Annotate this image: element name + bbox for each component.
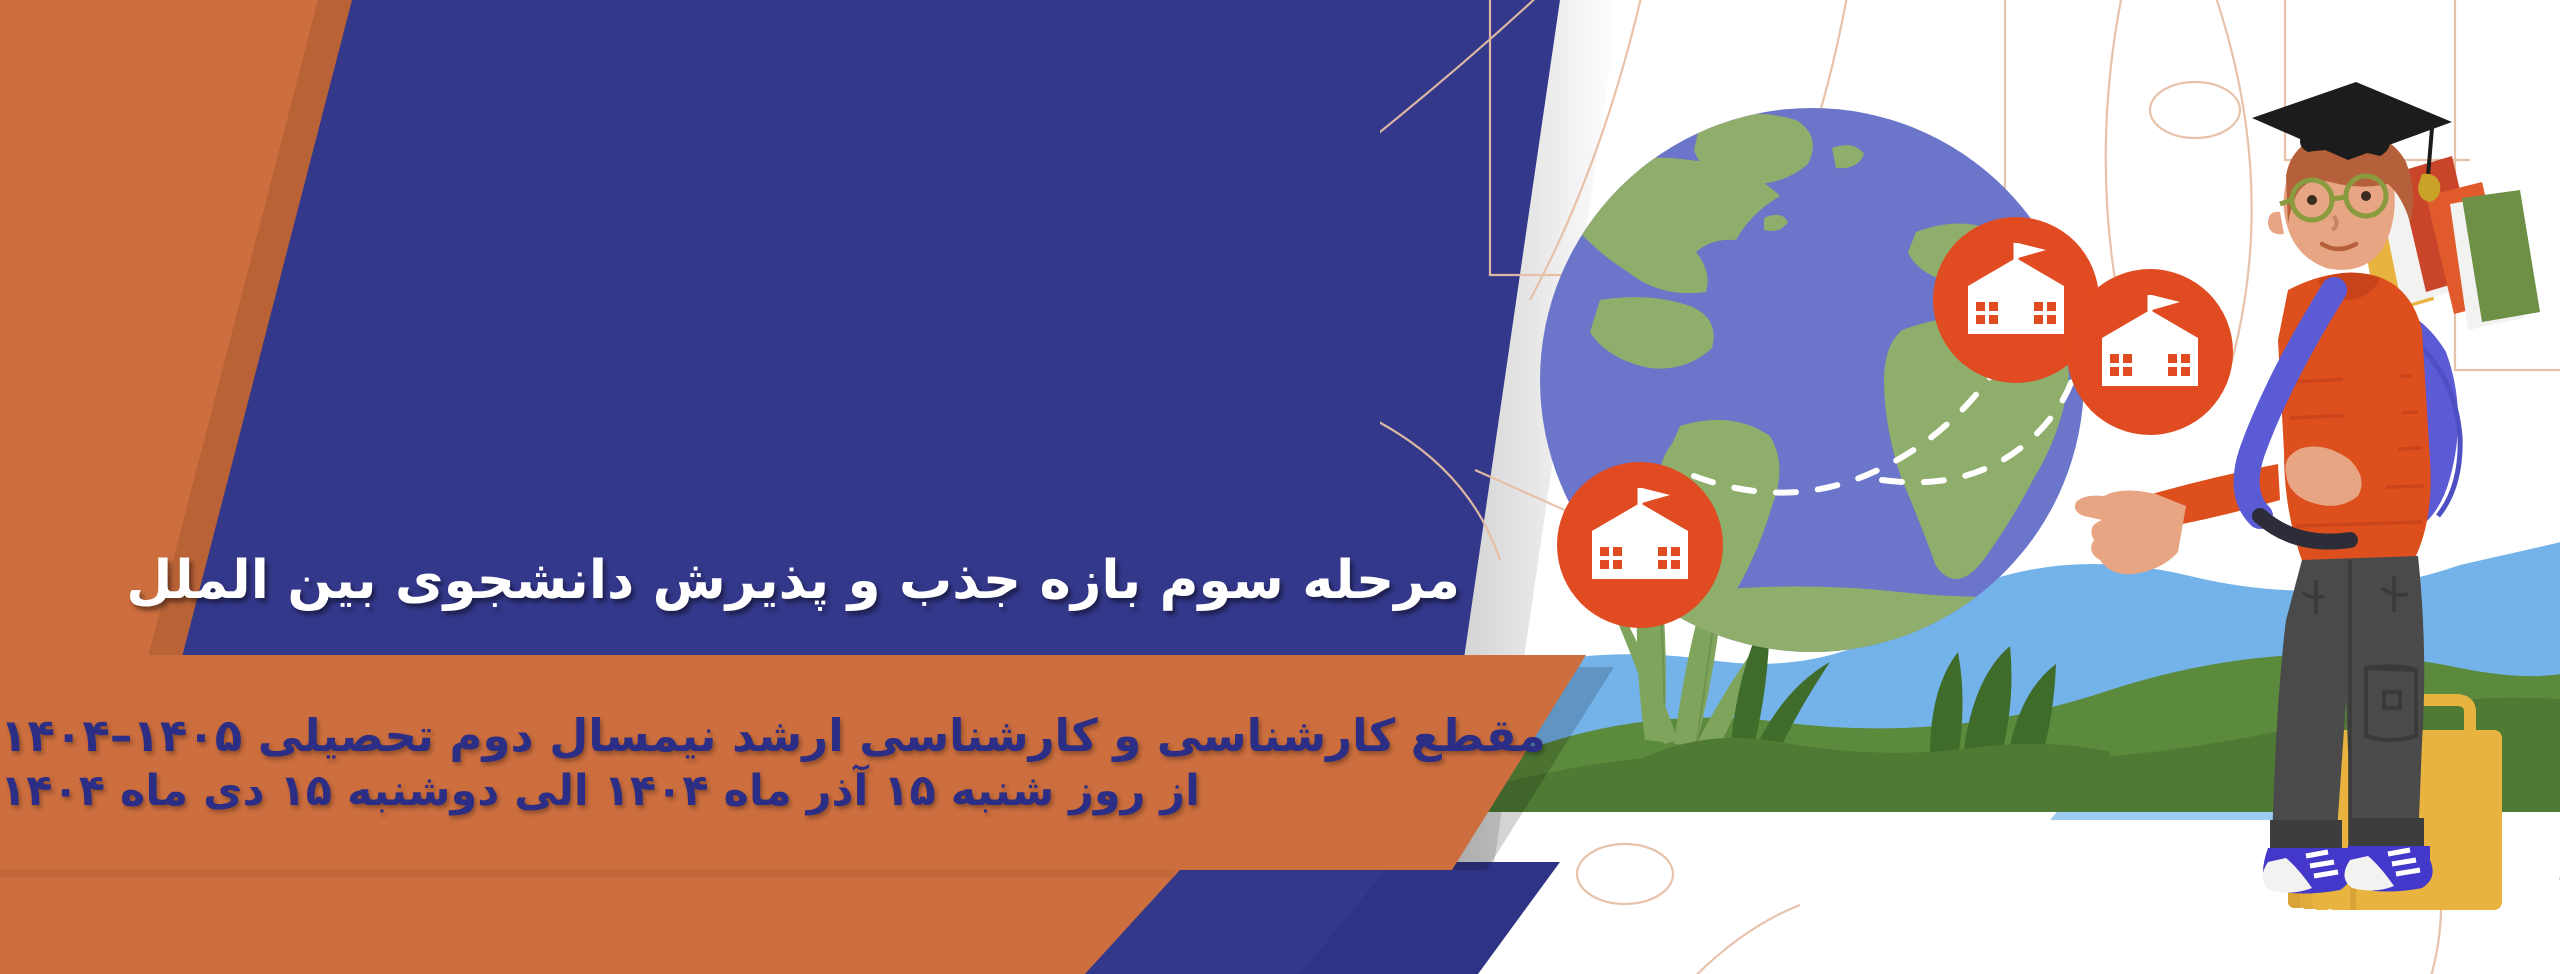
school-pin-icon — [2067, 269, 2233, 435]
school-pin-icon — [1557, 462, 1723, 628]
orange-bottom-band — [0, 870, 1180, 974]
page-title: مرحله سوم بازه جذب و پذیرش دانشجوی بین ا… — [126, 550, 1460, 611]
headline-container: مرحله سوم بازه جذب و پذیرش دانشجوی بین ا… — [0, 505, 1560, 655]
international-admissions-banner: مقطع کارشناسی و کارشناسی ارشد نیمسال دوم… — [0, 0, 2560, 974]
ribbon-text-block: مقطع کارشناسی و کارشناسی ارشد نیمسال دوم… — [0, 655, 1500, 870]
ribbon-degree-line: مقطع کارشناسی و کارشناسی ارشد نیمسال دوم… — [0, 709, 1546, 762]
ribbon-date-line: از روز شنبه ۱۵ آذر ماه ۱۴۰۴ الی دوشنبه ۱… — [0, 766, 1200, 816]
